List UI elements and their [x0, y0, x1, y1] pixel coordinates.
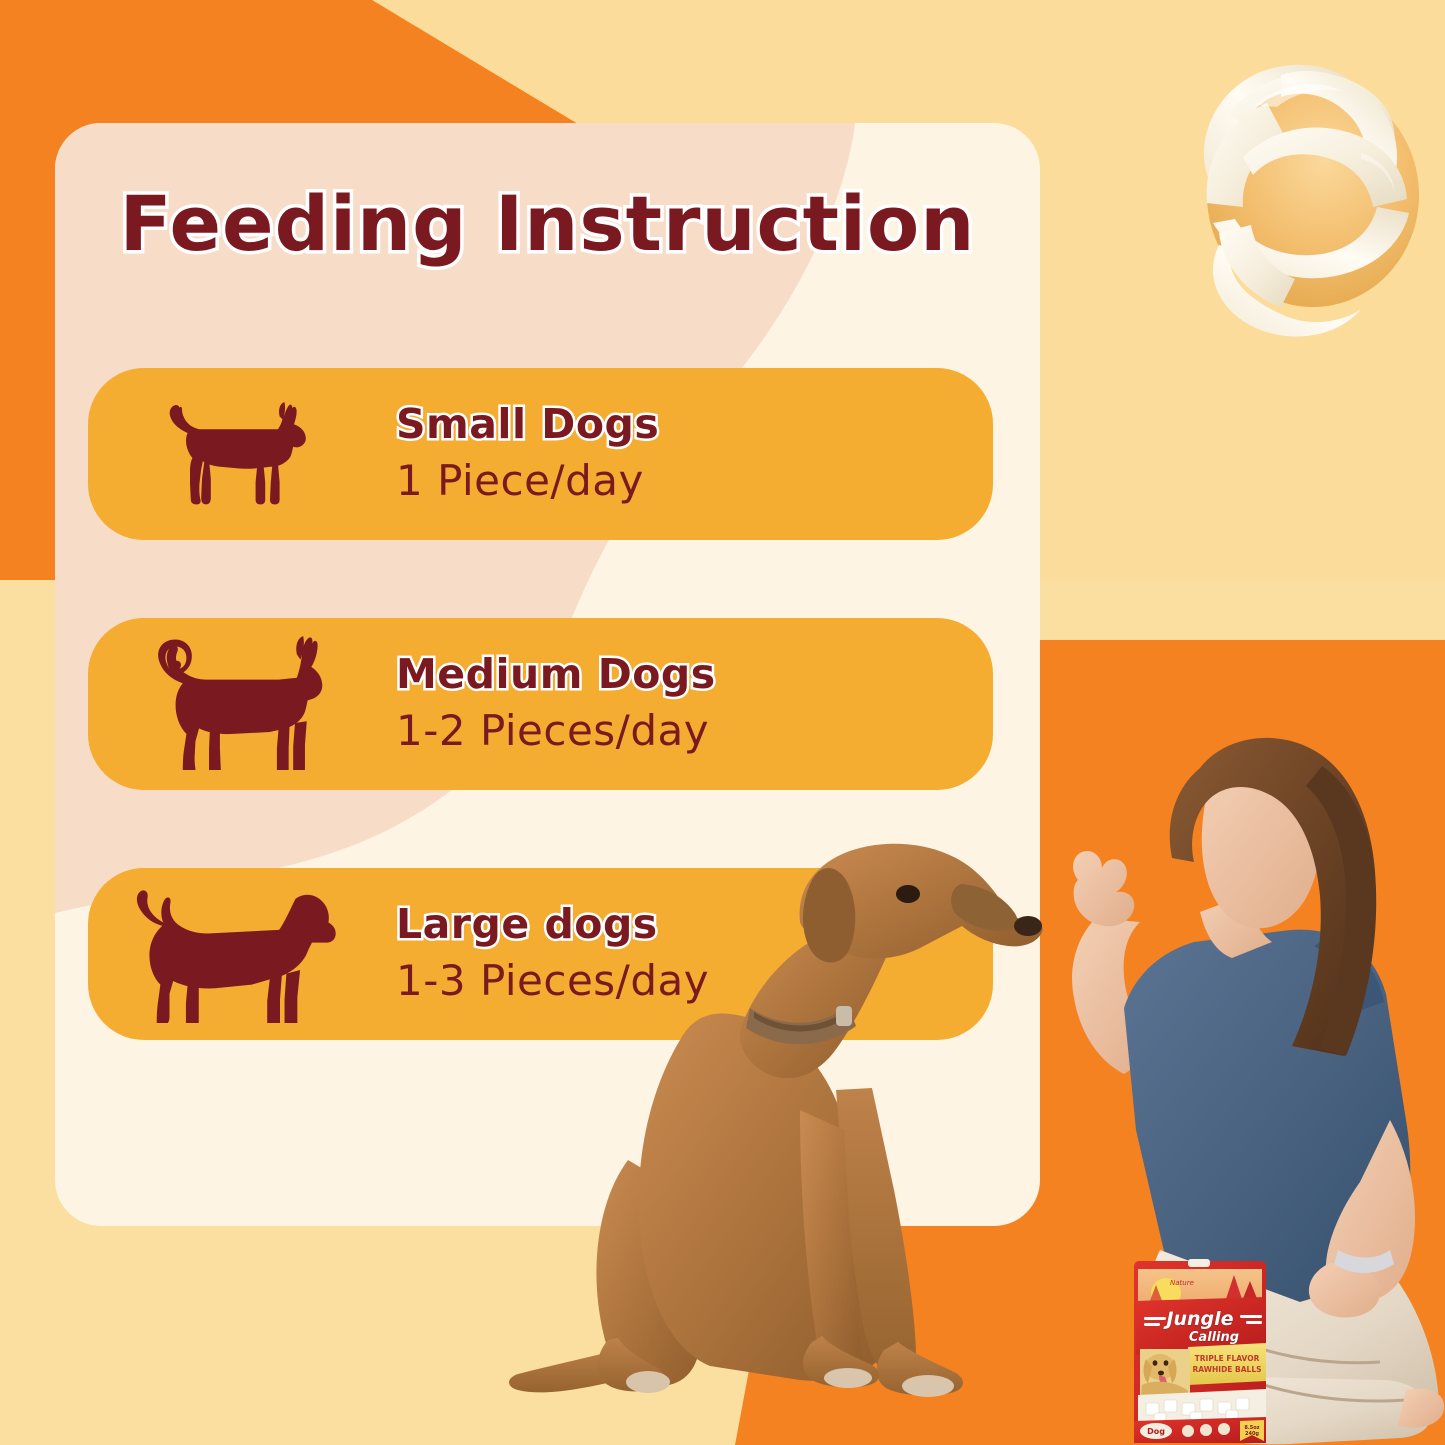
- woman-and-dog-photo: [500, 690, 1445, 1445]
- package-variant-line1: TRIPLE FLAVOR: [1195, 1354, 1260, 1363]
- package-net-weight-g: 240g: [1245, 1431, 1259, 1437]
- package-brand-top: Nature: [1170, 1279, 1194, 1287]
- package-brand-line1: Jungle: [1162, 1308, 1233, 1330]
- page-title: Feeding Instruction: [120, 179, 976, 268]
- poster-canvas: Feeding Instruction Small Dogs: [0, 0, 1445, 1445]
- feeding-row-small-text: Small Dogs 1 Piece/day: [388, 401, 993, 507]
- feeding-row-small-title: Small Dogs: [396, 401, 993, 448]
- package-brand-line2: Calling: [1189, 1330, 1239, 1345]
- jungle-calling-package: Nature Jungle Calling TRIPLE FLAVOR RAWH…: [1130, 1255, 1270, 1445]
- page-title-container: Feeding Instruction: [55, 123, 1040, 323]
- package-variant-line2: RAWHIDE BALLS: [1192, 1365, 1261, 1374]
- rawhide-ball-photo: [1185, 35, 1435, 360]
- dog-figure: [509, 844, 1043, 1397]
- medium-dog-icon: [88, 624, 388, 784]
- feeding-row-small-amount: 1 Piece/day: [396, 456, 993, 506]
- feeding-row-small[interactable]: Small Dogs 1 Piece/day: [88, 368, 993, 540]
- small-dog-icon: [88, 374, 388, 534]
- package-category: Dog: [1147, 1427, 1165, 1436]
- large-dog-icon: [88, 874, 388, 1034]
